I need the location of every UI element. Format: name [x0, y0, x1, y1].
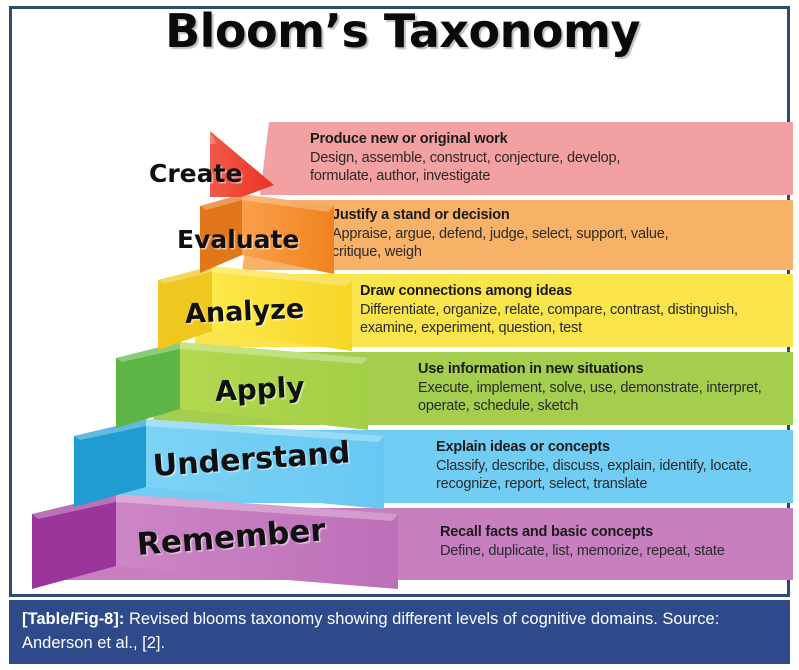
- band-evaluate: Justify a stand or decision Appraise, ar…: [242, 200, 793, 270]
- pyramid-label-apply: Apply: [214, 370, 305, 408]
- band-evaluate-verbs-line-2: critique, weigh: [332, 244, 422, 260]
- band-understand-verbs-line-1: Classify, describe, discuss, explain, id…: [436, 458, 752, 474]
- pyramid-label-create: Create: [149, 159, 242, 188]
- band-remember-verbs-line-1: Define, duplicate, list, memorize, repea…: [440, 543, 725, 559]
- band-understand-heading: Explain ideas or concepts: [436, 439, 610, 455]
- caption-label: [Table/Fig-8]:: [22, 610, 124, 628]
- band-analyze-heading: Draw connections among ideas: [360, 283, 572, 299]
- band-create-verbs-line-1: Design, assemble, construct, conjecture,…: [310, 150, 620, 166]
- band-understand-verbs-line-2: recognize, report, select, translate: [436, 476, 647, 492]
- pyramid-label-analyze: Analyze: [184, 294, 305, 330]
- band-analyze-verbs-line-2: examine, experiment, question, test: [360, 320, 582, 336]
- band-create-heading: Produce new or original work: [310, 131, 507, 147]
- pyramid-label-evaluate: Evaluate: [177, 225, 299, 254]
- band-create-verbs-line-2: formulate, author, investigate: [310, 168, 490, 184]
- band-evaluate-heading: Justify a stand or decision: [332, 207, 510, 223]
- page-title: Bloom’s Taxonomy: [12, 4, 793, 58]
- figure-caption: [Table/Fig-8]: Revised blooms taxonomy s…: [9, 600, 790, 664]
- band-apply-verbs-line-1: Execute, implement, solve, use, demonstr…: [418, 380, 762, 396]
- band-create: Produce new or original work Design, ass…: [260, 122, 793, 195]
- bloom-taxonomy-figure: Bloom’s Taxonomy Produce new or original…: [0, 0, 799, 670]
- band-analyze-verbs-line-1: Differentiate, organize, relate, compare…: [360, 302, 738, 318]
- band-apply-heading: Use information in new situations: [418, 361, 643, 377]
- caption-text: Revised blooms taxonomy showing differen…: [22, 610, 719, 652]
- band-apply-verbs-line-2: operate, schedule, sketch: [418, 398, 578, 414]
- figure-frame: Bloom’s Taxonomy Produce new or original…: [9, 6, 790, 597]
- band-evaluate-verbs-line-1: Appraise, argue, defend, judge, select, …: [332, 226, 668, 242]
- band-remember-heading: Recall facts and basic concepts: [440, 524, 653, 540]
